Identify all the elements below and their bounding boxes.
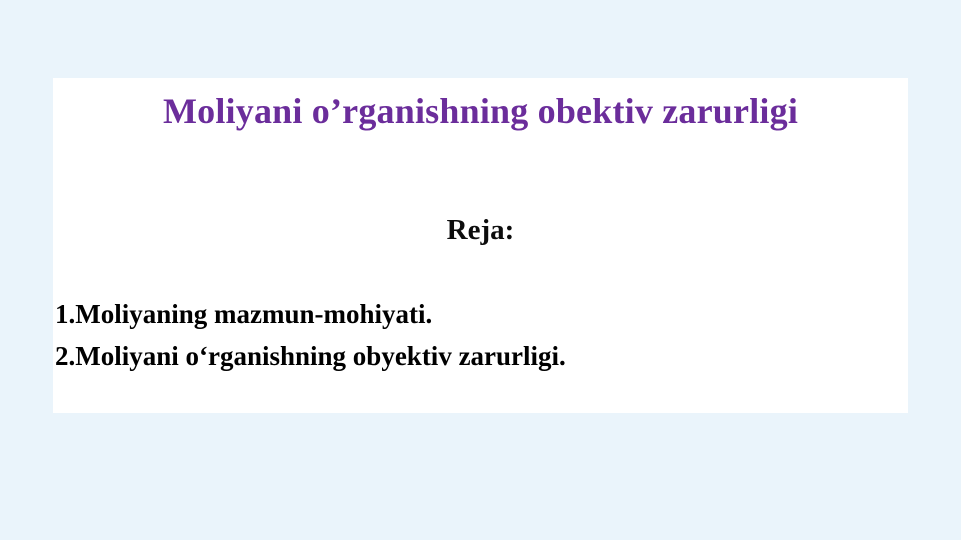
agenda-list: 1.Moliyaning mazmun-mohiyati. 2.Moliyani… <box>55 293 908 377</box>
list-item: 2.Moliyani o‘rganishning obyektiv zarurl… <box>55 335 908 377</box>
slide-title: Moliyani o’rganishning obektiv zarurligi <box>53 89 908 133</box>
agenda-heading: Reja: <box>53 212 908 248</box>
list-item: 1.Moliyaning mazmun-mohiyati. <box>55 293 908 335</box>
slide-content-card: Moliyani o’rganishning obektiv zarurligi… <box>53 78 908 413</box>
presentation-slide: Moliyani o’rganishning obektiv zarurligi… <box>0 0 961 540</box>
